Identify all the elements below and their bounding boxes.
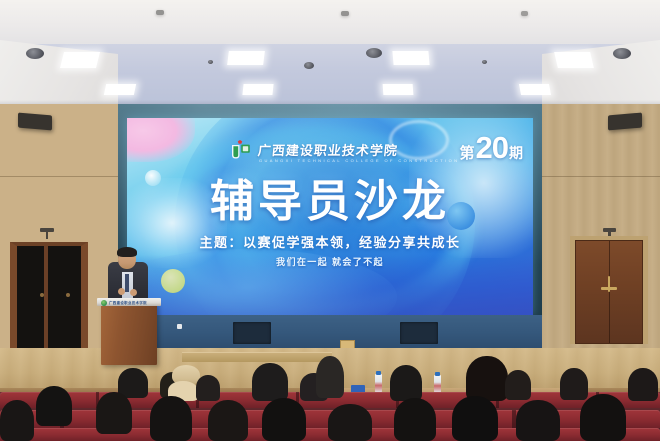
- presenter-hand: [130, 289, 137, 296]
- audience-person: [505, 370, 531, 400]
- issue-prefix: 第: [460, 142, 475, 163]
- audience-person: [516, 400, 560, 441]
- screen-subtitle: 主题：以赛促学强本领，经验分享共成长: [127, 232, 533, 251]
- audience-person: [628, 368, 658, 401]
- water-bottle: [375, 374, 382, 393]
- ceiling-vent: [341, 11, 349, 16]
- led-display-screen: 广西建设职业技术学院 GUANGXI TECHNICAL COLLEGE OF …: [127, 118, 533, 315]
- audience-person: [208, 400, 248, 441]
- school-emblem-icon: [101, 300, 107, 306]
- ceiling-spotlight: [366, 48, 382, 58]
- auditorium-photo: 广西建设职业技术学院 GUANGXI TECHNICAL COLLEGE OF …: [0, 0, 660, 441]
- wall-speaker-right: [608, 113, 642, 131]
- audience-person: [560, 368, 588, 400]
- presenter-tie: [125, 274, 129, 292]
- ceiling-sensor: [482, 60, 487, 64]
- ceiling-vent: [156, 10, 164, 15]
- issue-suffix: 期: [509, 143, 523, 163]
- wall-vent: [400, 322, 438, 344]
- audience-person: [150, 396, 192, 441]
- wall-fixture-left: [40, 228, 54, 232]
- door-handle-icon[interactable]: [608, 276, 610, 292]
- screen-content: 广西建设职业技术学院 GUANGXI TECHNICAL COLLEGE OF …: [127, 118, 533, 315]
- audience-person: [466, 356, 508, 401]
- audience-person: [390, 365, 422, 401]
- ceiling-vent: [521, 11, 528, 16]
- audience-person: [96, 392, 132, 434]
- audience-person: [452, 396, 498, 441]
- screen-issue-badge: 第 20 期: [460, 132, 524, 163]
- ceiling-light: [227, 51, 265, 65]
- ceiling-spotlight: [26, 48, 44, 59]
- audience-person: [394, 398, 436, 441]
- ceiling-light: [554, 52, 594, 68]
- podium: [101, 303, 157, 365]
- screen-logo-row: 广西建设职业技术学院: [229, 138, 398, 160]
- ceiling-light: [242, 84, 273, 95]
- right-double-door[interactable]: [575, 240, 643, 344]
- wall-vent: [233, 322, 271, 344]
- left-door-mullion: [44, 246, 48, 350]
- audience-person: [262, 398, 306, 441]
- screen-tagline: 我们在一起 就会了不起: [127, 255, 533, 268]
- wall-fixture-right: [603, 228, 616, 232]
- screen-main-title: 辅导员沙龙: [127, 180, 533, 224]
- ceiling-light: [392, 51, 429, 65]
- presenter-hair: [117, 247, 137, 257]
- ceiling-smoke-detector: [304, 62, 314, 69]
- audience-person: [316, 356, 344, 398]
- audience-person: [196, 375, 220, 401]
- audience-person: [36, 386, 72, 426]
- water-bottle: [434, 375, 441, 393]
- screen-org-name-sub: GUANGXI TECHNICAL COLLEGE OF CONSTRUCTIO…: [259, 158, 459, 163]
- issue-number: 20: [476, 132, 508, 163]
- audience-person: [0, 400, 34, 441]
- presenter-hand: [118, 288, 125, 295]
- audience-person: [252, 363, 288, 401]
- ceiling-light: [104, 84, 136, 95]
- stage-step: [182, 352, 332, 362]
- door-knob-icon[interactable]: [40, 293, 44, 297]
- podium-name-sign: 广西建设职业技术学院: [99, 299, 159, 306]
- wall-switch[interactable]: [177, 324, 182, 329]
- ceiling-light: [519, 84, 551, 95]
- bottle-cap-icon: [376, 371, 381, 375]
- audience-person: [580, 394, 626, 441]
- audience-person: [328, 404, 372, 441]
- wall-seam: [532, 176, 660, 177]
- ceiling-soffit: [0, 0, 660, 46]
- wall-speaker-left: [18, 113, 52, 131]
- bottle-cap-icon: [435, 372, 440, 376]
- door-knob-icon[interactable]: [66, 293, 70, 297]
- left-open-doorway[interactable]: [10, 242, 88, 352]
- school-emblem-icon: [229, 138, 253, 160]
- ceiling-spotlight: [613, 48, 631, 59]
- screen-org-name: 广西建设职业技术学院: [257, 140, 399, 159]
- wall-seam: [0, 176, 128, 177]
- ceiling-sensor: [208, 60, 213, 64]
- podium-sign-text: 广西建设职业技术学院: [109, 300, 147, 305]
- ceiling-light: [383, 84, 414, 95]
- ceiling-light: [60, 52, 100, 68]
